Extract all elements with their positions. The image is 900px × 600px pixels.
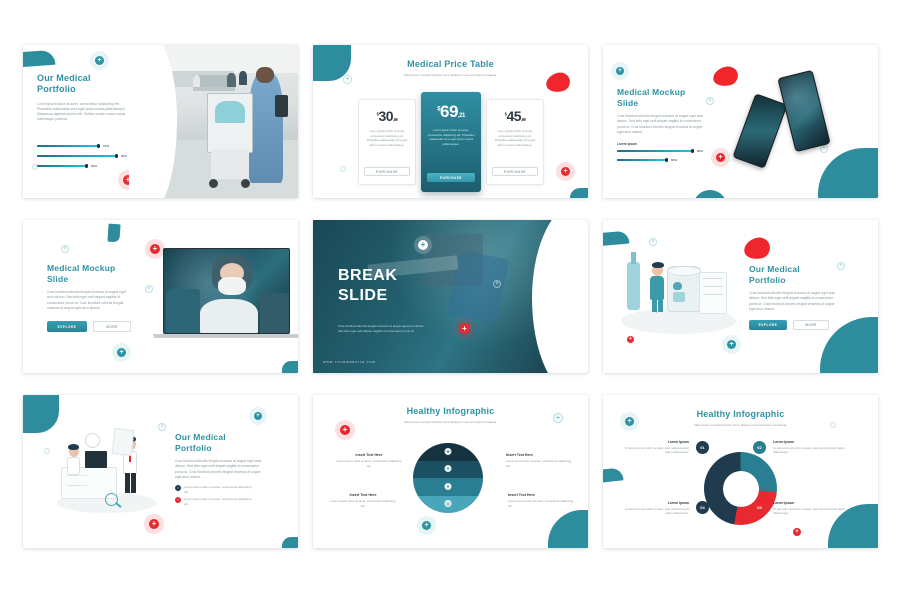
plus-icon: + <box>158 423 166 431</box>
info-icon: i <box>175 485 181 491</box>
hospital-corridor-photo <box>153 45 298 198</box>
purchase-button[interactable]: PURCHASE <box>427 173 475 182</box>
donut-label: Lorem Ipsum Ut wisi enim ad minim veniam… <box>621 501 689 516</box>
illustration-doctor1-body <box>67 457 80 475</box>
skill-bar-row: 90% <box>37 154 137 158</box>
donut-label: Lorem Ipsum Ut wisi enim ad minim veniam… <box>773 440 845 455</box>
break-body-text: Cras tincidunt lobortis feugiat vivamus … <box>338 324 430 334</box>
plus-icon: + <box>95 56 104 65</box>
bullet-list: i Lorem ipsum dolor sit amet, consectetu… <box>175 485 267 510</box>
decorative-swoosh <box>23 50 55 67</box>
medical-cross-icon: + <box>561 167 570 176</box>
medical-cross-icon: + <box>627 336 634 343</box>
illustration-clock <box>85 433 100 448</box>
slide-title-line2: Portfolio <box>175 443 267 454</box>
slide-body-text: Cras tincidunt lobortis feugiat vivamus … <box>175 459 265 480</box>
donut-label: Lorem Ipsum Ut wisi enim ad minim veniam… <box>773 501 845 516</box>
price-description: Lorem ipsum dolor sit amet, consectetur … <box>492 129 538 167</box>
decorative-swoosh <box>603 467 624 483</box>
donut-label-text: Ut wisi enim ad minim veniam, quis nostr… <box>621 507 689 516</box>
clipboard-icon: ▤ <box>445 500 452 507</box>
slide-subtitle: Ullamcorper suscipit lobortis nisl ut al… <box>662 423 820 428</box>
illustration-doctor-body <box>650 276 664 300</box>
decorative-corner-shape <box>818 148 878 198</box>
break-title-line1: BREAK <box>338 268 397 285</box>
slide-title: Healthy Infographic <box>603 409 878 419</box>
donut-chart <box>704 452 777 525</box>
slide-title-line1: Our Medical <box>749 264 841 275</box>
price-amount: $30,69 <box>377 108 398 124</box>
ring-icon <box>340 166 346 172</box>
infographic-circle: ✚ ✛ ♥ ▤ <box>413 443 483 513</box>
explore-button[interactable]: EXPLORE <box>47 321 87 332</box>
decorative-ribbon <box>570 188 588 198</box>
infographic-label: Insert Text Here Lorem ipsum dolor sit a… <box>329 493 397 508</box>
infographic-label: Insert Text Here Lorem ipsum dolor sit a… <box>508 493 576 508</box>
list-item: i Lorem ipsum dolor sit amet, consectetu… <box>175 485 267 494</box>
slide-title-line2: Portfolio <box>37 84 141 95</box>
decorative-swoosh <box>693 190 727 198</box>
skill-bar-row: 60% <box>617 158 722 162</box>
infographic-label-text: Lorem ipsum dolor sit amet, consectetur … <box>506 459 574 468</box>
slide-healthy-infographic-donut[interactable]: + + Healthy Infographic Ullamcorper susc… <box>603 395 878 548</box>
slide-our-medical-portfolio-bullets[interactable]: + + + Our Medical Portfolio Cras tincidu… <box>23 395 298 548</box>
stethoscope-icon: ✚ <box>445 448 452 455</box>
decorative-white-wave <box>532 220 588 373</box>
medical-cross-icon: + <box>149 519 159 529</box>
more-button[interactable]: MORE <box>93 321 131 332</box>
decorative-red-blob <box>711 65 739 89</box>
heart-icon: ♥ <box>445 483 452 490</box>
purchase-button[interactable]: PURCHASE <box>364 167 410 176</box>
decorative-swoosh <box>603 231 630 247</box>
plus-icon: + <box>820 145 828 153</box>
plus-icon: + <box>61 245 69 253</box>
decorative-ribbon <box>282 537 298 548</box>
slide-title-line2: Slide <box>617 98 713 109</box>
price-card[interactable]: $30,69 Lorem ipsum dolor sit amet, conse… <box>358 99 416 185</box>
donut-label-text: Ut wisi enim ad minim veniam, quis nostr… <box>773 446 845 455</box>
decorative-ribbon <box>107 224 120 243</box>
step-badge-02: 02 <box>753 441 766 454</box>
step-badge-04: 04 <box>696 501 709 514</box>
slide-body-text: Cras tincidunt lobortis feugiat vivamus … <box>47 290 133 311</box>
price-amount: $45,69 <box>505 108 526 124</box>
slide-thumbnail-grid: + + + Our Medical Portfolio Lorem ipsum <box>0 0 900 600</box>
pill-icon: ✛ <box>445 465 452 472</box>
illustration-chart <box>112 428 135 456</box>
slide-body-text: Cras tincidunt lobortis feugiat vivamus … <box>617 114 707 135</box>
donut-label-text: Ut wisi enim ad minim veniam, quis nostr… <box>623 446 689 455</box>
slide-title-line1: Our Medical <box>37 73 141 84</box>
decorative-corner-shape <box>548 510 588 548</box>
slide-body-text: Cras tincidunt lobortis feugiat vivamus … <box>749 291 839 312</box>
purchase-button[interactable]: PURCHASE <box>492 167 538 176</box>
medical-cross-icon: + <box>150 244 160 254</box>
plus-icon: + <box>649 238 657 246</box>
medical-cross-icon: + <box>340 425 350 435</box>
infographic-label-title: Insert Text Here <box>335 453 403 457</box>
laptop-mockup <box>163 248 290 334</box>
price-value: 30 <box>378 108 393 124</box>
decorative-corner-shape <box>23 395 59 433</box>
slide-our-medical-portfolio-illustration[interactable]: + + + + Our Medical Portfolio Cras tinci… <box>603 220 878 373</box>
infographic-label-text: Lorem ipsum dolor sit amet, consectetur … <box>335 459 403 468</box>
plus-icon: + <box>145 285 153 293</box>
plus-icon: + <box>493 280 501 288</box>
donut-label-text: Ut wisi enim ad minim veniam, quis nostr… <box>773 507 845 516</box>
infographic-label: Insert Text Here Lorem ipsum dolor sit a… <box>335 453 403 468</box>
infographic-label: Insert Text Here Lorem ipsum dolor sit a… <box>506 453 574 468</box>
bullet-text: Lorem ipsum dolor sit amet, consectetur … <box>184 485 256 494</box>
skill-bars: Lorem Ipsum 80% 60% <box>617 142 722 162</box>
slide-subtitle: Ullamcorper suscipit lobortis nisl ut al… <box>371 73 531 78</box>
price-value: 45 <box>506 108 521 124</box>
laptop-base <box>153 334 298 338</box>
skill-bar-percent: 90% <box>121 154 127 158</box>
slide-healthy-infographic-circle[interactable]: + + + Healthy Infographic Ullamcorper su… <box>313 395 588 548</box>
donut-label-title: Lorem Ipsum <box>623 440 689 444</box>
slide-medical-price-table[interactable]: + + Medical Price Table Ullamcorper susc… <box>313 45 588 198</box>
skill-bar-percent: 60% <box>91 164 97 168</box>
medical-cross-icon: + <box>175 497 181 503</box>
infographic-label-title: Insert Text Here <box>329 493 397 497</box>
donut-label-title: Lorem Ipsum <box>773 501 845 505</box>
price-description: Lorem ipsum dolor sit amet, consectetur … <box>426 128 476 173</box>
explore-button[interactable]: EXPLORE <box>749 320 787 330</box>
plus-icon: + <box>727 340 736 349</box>
slide-title-line2: Portfolio <box>749 275 841 286</box>
slide-subtitle: Ullamcorper suscipit lobortis nisl ut al… <box>371 420 531 425</box>
plus-icon: + <box>117 348 126 357</box>
slide-title-line1: Medical Mockup <box>617 87 713 98</box>
slide-title-line1: Medical Mockup <box>47 263 139 274</box>
step-badge-01: 01 <box>696 441 709 454</box>
skill-bar-row: 70% <box>37 144 137 148</box>
slide-medical-mockup-laptop[interactable]: + + + + Medical Mockup Slide Cras tincid… <box>23 220 298 373</box>
ring-icon <box>44 448 50 454</box>
decorative-red-blob <box>742 236 772 262</box>
price-cents: ,69 <box>393 117 397 122</box>
infographic-label-text: Lorem ipsum dolor sit amet, consectetur … <box>329 499 397 508</box>
price-value: 69 <box>440 102 458 121</box>
price-description: Lorem ipsum dolor sit amet, consectetur … <box>364 129 410 167</box>
step-badge-03: 03 <box>753 501 766 514</box>
slide-our-medical-portfolio-photo[interactable]: + + + Our Medical Portfolio Lorem ipsum <box>23 45 298 198</box>
break-title-line2: SLIDE <box>338 288 397 305</box>
medical-cross-icon: + <box>793 528 801 536</box>
price-card[interactable]: $45,69 Lorem ipsum dolor sit amet, conse… <box>486 99 544 185</box>
donut-label-title: Lorem Ipsum <box>773 440 845 444</box>
slide-break[interactable]: + + + BREAK SLIDE Cras tincidunt loborti… <box>313 220 588 373</box>
list-item: + Lorem ipsum dolor sit amet, consectetu… <box>175 497 267 506</box>
infographic-label-text: Lorem ipsum dolor sit amet, consectetur … <box>508 499 576 508</box>
more-button[interactable]: MORE <box>793 320 829 330</box>
infographic-label-title: Insert Text Here <box>508 493 576 497</box>
skill-bar-row: 60% <box>37 164 137 168</box>
bullet-text: Lorem ipsum dolor sit amet, consectetur … <box>184 497 256 506</box>
decorative-ribbon <box>282 361 298 373</box>
skill-bar-percent: 80% <box>697 149 703 153</box>
plus-icon: + <box>616 67 624 75</box>
donut-label: Lorem Ipsum Ut wisi enim ad minim veniam… <box>623 440 689 455</box>
slide-medical-mockup-phone[interactable]: + + + + Medical Mockup Slide Cras tincid… <box>603 45 878 198</box>
price-amount: $69,21 <box>437 102 465 122</box>
skill-bar-row: 80% <box>617 149 722 153</box>
price-cents: ,69 <box>521 117 525 122</box>
plus-icon: + <box>254 412 262 420</box>
illustration-syringe <box>627 262 640 310</box>
website-url: WWW.YOURWEBSITE.COM <box>323 361 376 364</box>
skill-bar-percent: 70% <box>103 144 109 148</box>
phone-mockup-back <box>732 93 787 169</box>
illustration-monitor <box>85 451 107 468</box>
medical-cross-icon: + <box>459 323 470 334</box>
skill-bar-percent: 60% <box>671 158 677 162</box>
donut-label-title: Lorem Ipsum <box>621 501 689 505</box>
slide-title-line2: Slide <box>47 274 139 285</box>
price-cents: ,21 <box>458 113 465 119</box>
phone-mockup-front <box>777 70 830 152</box>
price-card-featured[interactable]: $69,21 Lorem ipsum dolor sit amet, conse… <box>421 92 481 192</box>
slide-title: Healthy Infographic <box>313 406 588 416</box>
slide-title-line1: Our Medical <box>175 432 267 443</box>
skill-bars: 70% 90% 60% <box>37 144 137 168</box>
skill-bars-heading: Lorem Ipsum <box>617 142 722 146</box>
slide-title: Medical Price Table <box>313 59 588 69</box>
infographic-label-title: Insert Text Here <box>506 453 574 457</box>
slide-body-text: Lorem ipsum dolor sit amet, consectetur … <box>37 102 129 123</box>
plus-icon: + <box>422 521 431 530</box>
plus-icon: + <box>418 240 428 250</box>
